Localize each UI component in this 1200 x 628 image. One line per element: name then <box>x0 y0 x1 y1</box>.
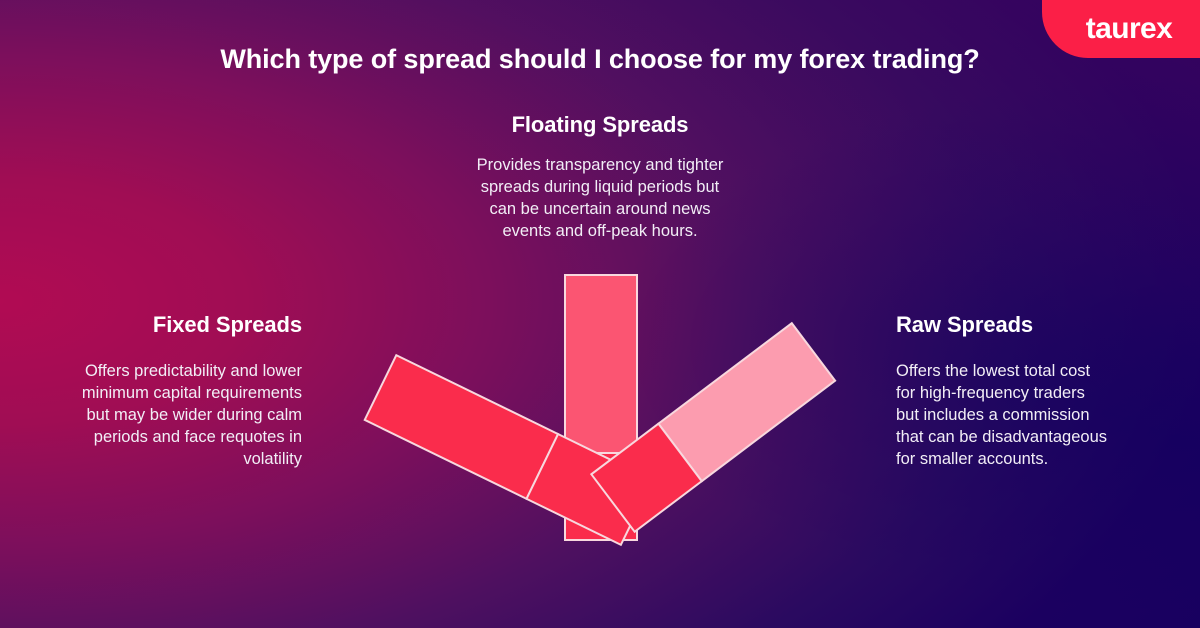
bar-left-inner-segment <box>527 434 653 545</box>
taurex-wordmark: taurex <box>1086 14 1172 44</box>
bar-right-raw <box>591 323 835 532</box>
bar-left-fixed <box>365 355 653 545</box>
bar-right-inner-segment <box>591 424 701 532</box>
bar-center-lower-segment <box>565 453 637 540</box>
infographic-canvas: taurex Which type of spread should I cho… <box>0 0 1200 628</box>
block-raw-spreads: Raw Spreads Offers the lowest total cost… <box>896 312 1186 470</box>
block-floating-spreads: Floating Spreads Provides transparency a… <box>430 112 770 242</box>
bar-left-outer-segment <box>365 355 558 499</box>
fixed-spreads-body: Offers predictability and lower minimum … <box>20 360 302 470</box>
bar-right-outer-segment <box>658 323 835 481</box>
bar-center-floating <box>565 275 637 540</box>
block-fixed-spreads: Fixed Spreads Offers predictability and … <box>20 312 302 470</box>
floating-spreads-heading: Floating Spreads <box>430 112 770 138</box>
bar-center-upper-segment <box>565 275 637 453</box>
page-title: Which type of spread should I choose for… <box>0 44 1200 75</box>
fixed-spreads-heading: Fixed Spreads <box>20 312 302 338</box>
floating-spreads-body: Provides transparency and tighter spread… <box>430 154 770 242</box>
raw-spreads-body: Offers the lowest total cost for high-fr… <box>896 360 1186 470</box>
raw-spreads-heading: Raw Spreads <box>896 312 1186 338</box>
